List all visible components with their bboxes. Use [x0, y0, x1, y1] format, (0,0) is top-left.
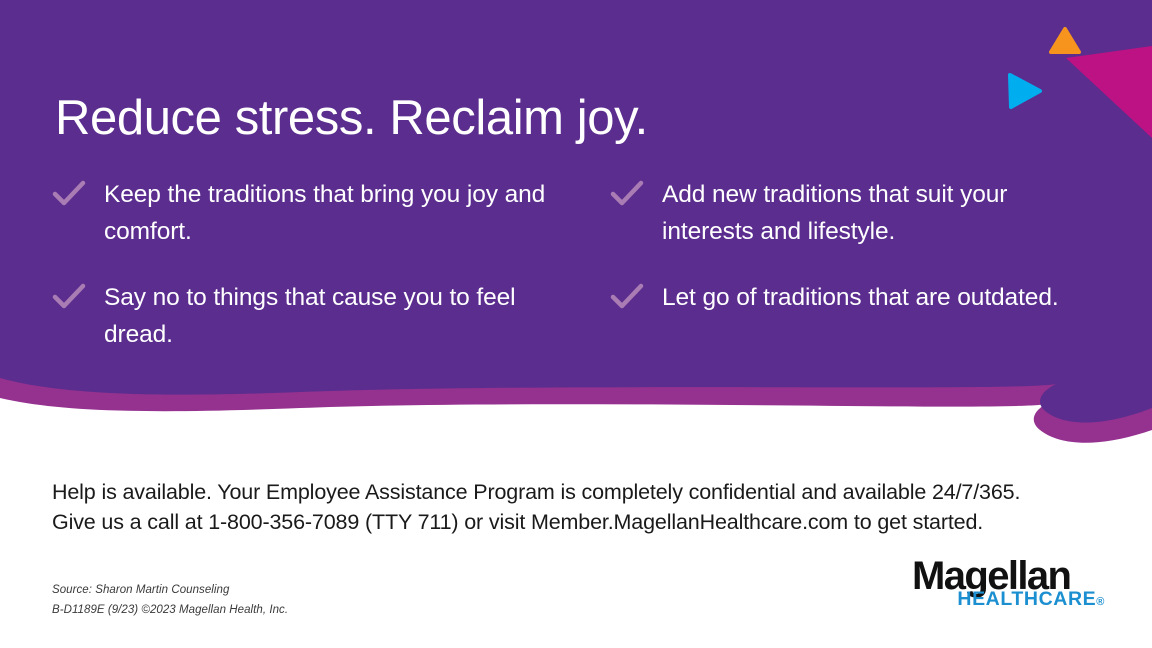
list-item-label: Let go of traditions that are outdated.: [662, 279, 1059, 316]
list-item: Say no to things that cause you to feel …: [52, 279, 572, 354]
fine-print-legal: B-D1189E (9/23) ©2023 Magellan Health, I…: [52, 600, 288, 620]
magellan-healthcare-logo: Magellan HEALTHCARE®: [912, 556, 1107, 614]
logo-subtitle-text: HEALTHCARE: [957, 588, 1096, 610]
fine-print: Source: Sharon Martin Counseling B-D1189…: [52, 580, 288, 621]
list-item-label: Keep the traditions that bring you joy a…: [104, 176, 572, 251]
cyan-triangle-icon: [1010, 75, 1040, 107]
magenta-triangle-icon: [1066, 46, 1152, 138]
slide-canvas: Reduce stress. Reclaim joy. Keep the tra…: [0, 0, 1152, 648]
orange-triangle-icon: [1051, 29, 1079, 52]
list-item: Keep the traditions that bring you joy a…: [52, 176, 572, 251]
check-icon: [52, 180, 86, 210]
list-item: Add new traditions that suit your intere…: [610, 176, 1080, 251]
fine-print-source: Source: Sharon Martin Counseling: [52, 580, 288, 600]
check-icon: [610, 180, 644, 210]
page-title: Reduce stress. Reclaim joy.: [55, 91, 955, 146]
logo-subtitle: HEALTHCARE®: [957, 590, 1105, 610]
list-item-label: Say no to things that cause you to feel …: [104, 279, 572, 354]
bullet-column-left: Keep the traditions that bring you joy a…: [52, 176, 572, 382]
check-icon: [52, 283, 86, 313]
check-icon: [610, 283, 644, 313]
bullet-column-right: Add new traditions that suit your intere…: [610, 176, 1080, 344]
registered-trademark-icon: ®: [1096, 596, 1105, 608]
body-paragraph: Help is available. Your Employee Assista…: [52, 477, 1032, 538]
list-item: Let go of traditions that are outdated.: [610, 279, 1080, 316]
list-item-label: Add new traditions that suit your intere…: [662, 176, 1080, 251]
